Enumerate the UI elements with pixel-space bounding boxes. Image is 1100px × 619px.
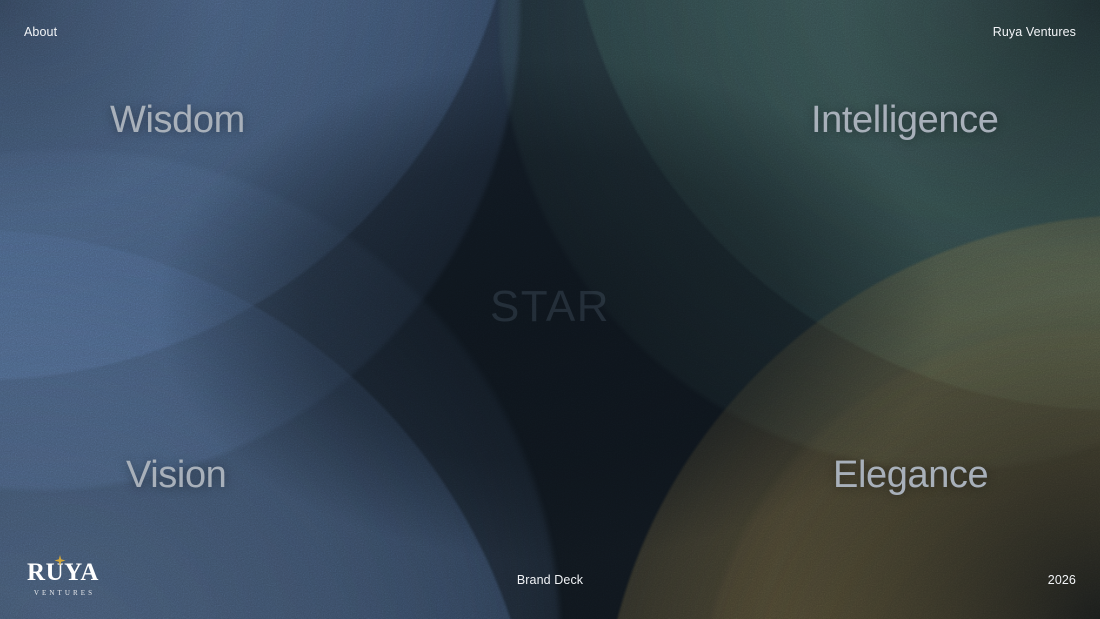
footer-deck-label: Brand Deck: [517, 573, 583, 587]
concept-word-elegance: Elegance: [833, 454, 988, 497]
nav-link-about[interactable]: About: [24, 25, 57, 39]
four-point-star-icon: [54, 555, 65, 566]
center-word-star: STAR: [490, 282, 610, 332]
logo-wordmark: RUYA: [20, 560, 106, 585]
logo-tagline: VENTURES: [20, 589, 106, 597]
logo-ruya-ventures[interactable]: RUYA VENTURES: [20, 560, 106, 597]
concept-word-intelligence: Intelligence: [811, 99, 998, 142]
brand-name-label: Ruya Ventures: [993, 25, 1076, 39]
concept-word-vision: Vision: [126, 454, 226, 497]
brand-deck-slide: About Ruya Ventures Wisdom Intelligence …: [0, 0, 1100, 619]
footer-year-label: 2026: [1048, 573, 1076, 587]
concept-word-wisdom: Wisdom: [110, 99, 245, 142]
